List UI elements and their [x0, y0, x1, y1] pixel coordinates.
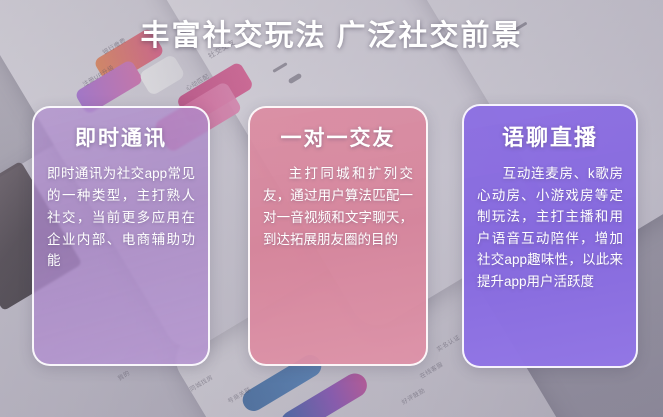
card-title: 即时通讯 [47, 122, 195, 152]
promo-banner: 社交交友 银行缴费 注册UP升级 心动匹配 同城找房 号商关联 我的 实名认证 … [0, 0, 663, 417]
page-title: 丰富社交玩法 广泛社交前景 [0, 12, 663, 54]
card-body: 主打同城和扩列交友，通过用户算法匹配一对一音视频和文字聊天，到达拓展朋友圈的目的 [263, 163, 413, 250]
card-title: 语聊直播 [477, 120, 623, 152]
card-body: 互动连麦房、k歌房心动房、小游戏房等定制玩法，主打主播和用户语音互动陪伴，增加社… [477, 163, 623, 293]
feature-card-instant-messaging[interactable]: 即时通讯 即时通讯为社交app常见的一种类型，主打熟人社交，当前更多应用在企业内… [32, 106, 210, 366]
card-body: 即时通讯为社交app常见的一种类型，主打熟人社交，当前更多应用在企业内部、电商辅… [47, 163, 195, 272]
feature-card-one-to-one-dating[interactable]: 一对一交友 主打同城和扩列交友，通过用户算法匹配一对一音视频和文字聊天，到达拓展… [248, 106, 428, 366]
feature-card-voice-chat-live[interactable]: 语聊直播 互动连麦房、k歌房心动房、小游戏房等定制玩法，主打主播和用户语音互动陪… [462, 104, 638, 368]
card-title: 一对一交友 [263, 122, 413, 152]
